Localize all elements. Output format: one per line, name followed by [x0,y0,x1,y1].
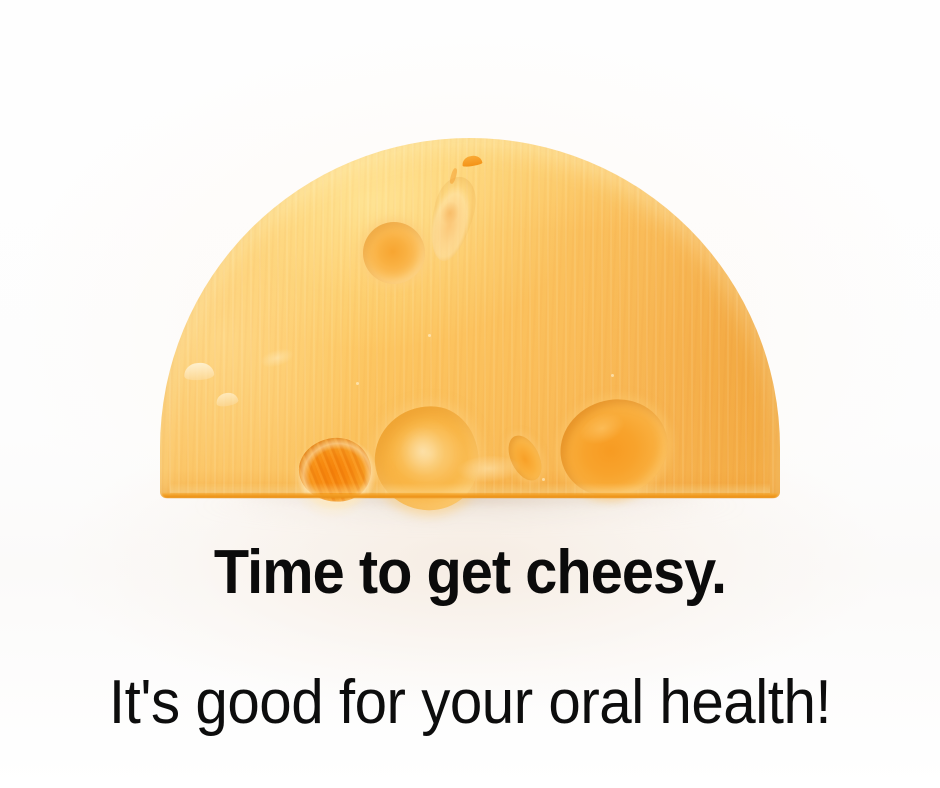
poster-canvas: Time to get cheesy. It's good for your o… [0,0,940,788]
subline-text: It's good for your oral health! [28,666,912,740]
headline-text: Time to get cheesy. [33,536,907,610]
cheese-speckle [428,334,431,337]
cheese-hole-upper-round [363,222,425,284]
cheese-bottom-cut-rim [162,493,778,498]
cheese-speckle [356,382,359,385]
cheese-speckle [611,374,614,377]
caption-block: Time to get cheesy. It's good for your o… [0,536,940,740]
cheese-bottom-edge-light [170,483,770,493]
cheese-block-image [160,138,780,498]
cheese-speckle [542,478,545,481]
